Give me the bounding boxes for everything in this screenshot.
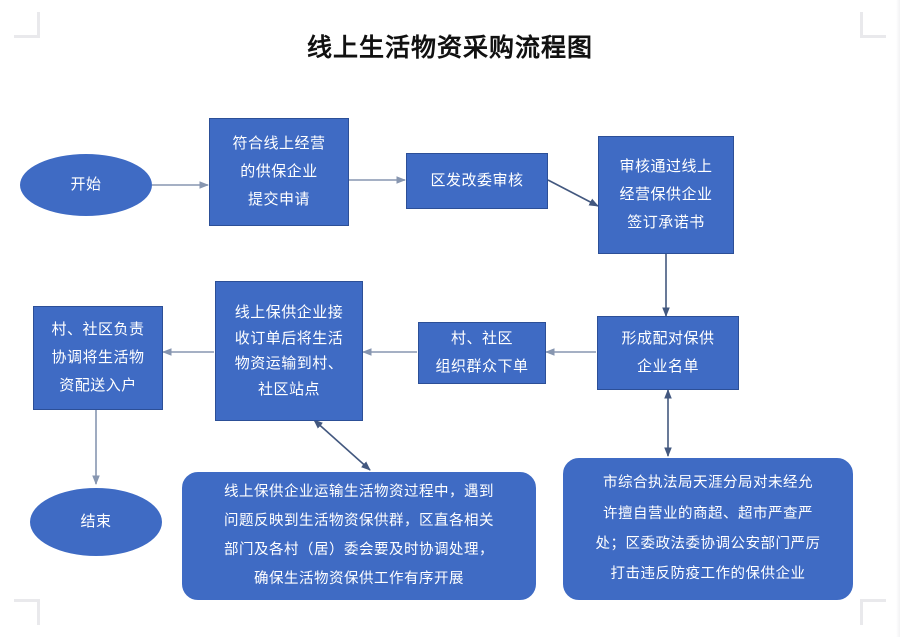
node-transport-line-3: 社区站点: [258, 377, 320, 403]
node-delivery-line-0: 村、社区负责: [51, 316, 144, 344]
node-commitment[interactable]: 审核通过线上 经营保供企业 签订承诺书: [598, 136, 734, 254]
node-delivery-line-1: 协调将生活物: [51, 344, 144, 372]
node-note-coordination-line-1: 问题反映到生活物资保供群，区直各相关: [224, 507, 494, 536]
flowchart-page: 线上生活物资采购流程图: [0, 0, 900, 637]
node-note-enforcement-line-2: 处；区委政法委协调公安部门严厉: [596, 529, 821, 559]
node-transport-line-0: 线上保供企业接: [235, 300, 344, 326]
node-apply[interactable]: 符合线上经营 的供保企业 提交申请: [209, 118, 349, 226]
node-apply-line-1: 的供保企业: [240, 158, 318, 186]
node-commitment-line-0: 审核通过线上: [619, 153, 712, 181]
node-note-enforcement-line-3: 打击违反防疫工作的保供企业: [611, 559, 806, 589]
node-note-enforcement-line-1: 许擅自营业的商超、超市严查严: [603, 499, 813, 529]
node-note-coordination-line-2: 部门及各村（居）委会要及时协调处理，: [224, 536, 494, 565]
node-transport-line-1: 收订单后将生活: [235, 326, 344, 352]
node-delivery[interactable]: 村、社区负责 协调将生活物 资配送入户: [33, 306, 163, 410]
node-commitment-line-2: 签订承诺书: [627, 209, 705, 237]
node-review-line-0: 区发改委审核: [430, 167, 523, 195]
node-pairing-list-line-0: 形成配对保供: [621, 325, 714, 353]
node-note-coordination-line-3: 确保生活物资保供工作有序开展: [254, 565, 464, 594]
node-start[interactable]: 开始: [20, 154, 152, 216]
node-transport-line-2: 物资运输到村、: [235, 351, 344, 377]
node-apply-line-0: 符合线上经营: [232, 130, 325, 158]
node-apply-line-2: 提交申请: [248, 186, 310, 214]
node-village-order-line-0: 村、社区: [451, 325, 513, 353]
node-note-coordination[interactable]: 线上保供企业运输生活物资过程中，遇到 问题反映到生活物资保供群，区直各相关 部门…: [182, 472, 536, 600]
node-note-coordination-line-0: 线上保供企业运输生活物资过程中，遇到: [224, 478, 494, 507]
node-start-line-0: 开始: [70, 171, 101, 199]
connector-transport-to-note-coordination: [314, 420, 370, 470]
node-village-order-line-1: 组织群众下单: [435, 353, 528, 381]
node-review[interactable]: 区发改委审核: [406, 153, 548, 209]
node-end[interactable]: 结束: [30, 488, 162, 556]
node-village-order[interactable]: 村、社区 组织群众下单: [418, 322, 546, 384]
node-commitment-line-1: 经营保供企业: [619, 181, 712, 209]
node-delivery-line-2: 资配送入户: [59, 372, 137, 400]
connector-review-to-commitment: [548, 180, 598, 206]
node-end-line-0: 结束: [80, 508, 111, 536]
node-note-enforcement[interactable]: 市综合执法局天涯分局对未经允 许擅自营业的商超、超市严查严 处；区委政法委协调公…: [563, 458, 853, 600]
node-pairing-list-line-1: 企业名单: [637, 353, 699, 381]
node-note-enforcement-line-0: 市综合执法局天涯分局对未经允: [603, 468, 813, 498]
node-pairing-list[interactable]: 形成配对保供 企业名单: [597, 316, 739, 390]
node-transport[interactable]: 线上保供企业接 收订单后将生活 物资运输到村、 社区站点: [215, 281, 363, 421]
